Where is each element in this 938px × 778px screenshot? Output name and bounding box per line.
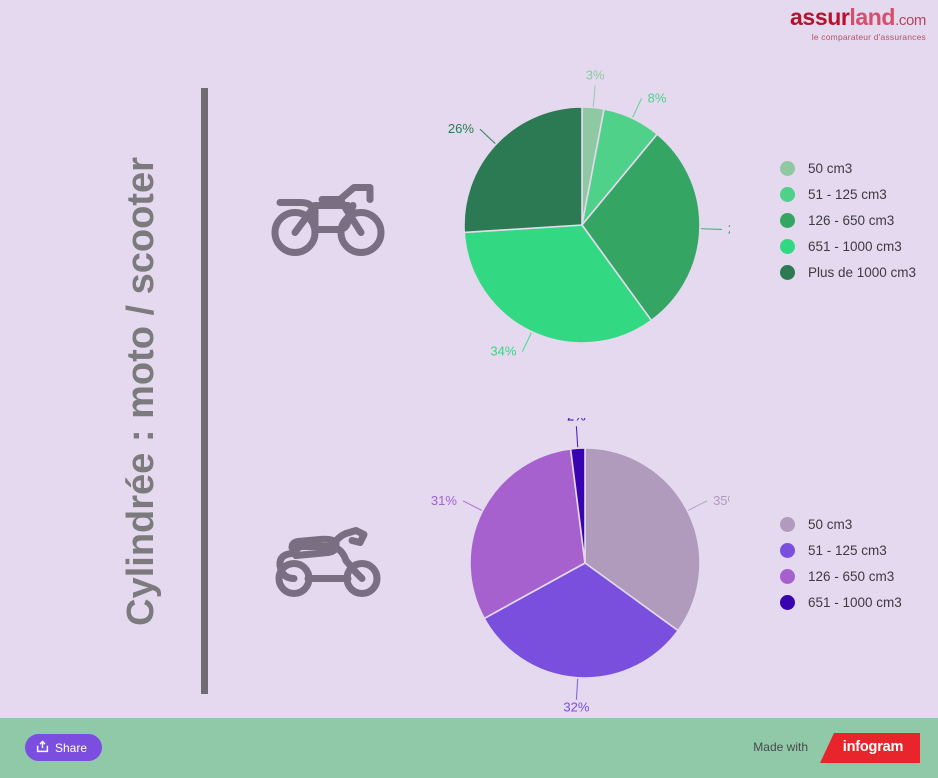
- pie-percent-label: 29%: [728, 221, 730, 236]
- leader-line: [576, 426, 577, 447]
- pie-percent-label: 31%: [431, 493, 457, 508]
- logo-tagline: le comparateur d'assurances: [790, 33, 926, 42]
- pie-percent-label: 26%: [448, 121, 474, 136]
- legend-color-swatch: [780, 569, 795, 584]
- assurland-logo: assurland.com le comparateur d'assurance…: [790, 6, 926, 42]
- legend-item[interactable]: 51 - 125 cm3: [780, 181, 916, 207]
- legend-item-label: 50 cm3: [808, 517, 852, 532]
- legend-color-swatch: [780, 161, 795, 176]
- pie-chart-moto: 3%8%29%34%26%: [430, 70, 730, 370]
- pie-percent-label: 8%: [648, 90, 667, 105]
- pie-percent-label: 34%: [490, 344, 516, 359]
- pie-chart-scooter: 35%32%31%2%: [430, 418, 730, 708]
- leader-line: [633, 98, 642, 117]
- infographic-page: assurland.com le comparateur d'assurance…: [0, 0, 938, 778]
- infogram-badge[interactable]: infogram: [820, 733, 920, 763]
- vertical-divider: [201, 88, 208, 694]
- pie-slice[interactable]: [464, 107, 582, 232]
- leader-line: [576, 679, 577, 700]
- pie-percent-label: 2%: [567, 418, 586, 423]
- legend-item-label: 50 cm3: [808, 161, 852, 176]
- legend-item-label: 51 - 125 cm3: [808, 187, 887, 202]
- pie-percent-label: 3%: [586, 70, 605, 83]
- legend-item[interactable]: Plus de 1000 cm3: [780, 259, 916, 285]
- legend-item[interactable]: 651 - 1000 cm3: [780, 589, 902, 615]
- leader-line: [480, 129, 495, 143]
- made-with-label: Made with: [753, 740, 808, 754]
- legend-color-swatch: [780, 265, 795, 280]
- legend-item[interactable]: 126 - 650 cm3: [780, 207, 916, 233]
- chart-row-scooter: 35%32%31%2% 50 cm351 - 125 cm3126 - 650 …: [215, 418, 938, 708]
- legend-color-swatch: [780, 239, 795, 254]
- legend-color-swatch: [780, 187, 795, 202]
- logo-com: .com: [895, 12, 926, 29]
- legend-item[interactable]: 651 - 1000 cm3: [780, 233, 916, 259]
- legend-moto: 50 cm351 - 125 cm3126 - 650 cm3651 - 100…: [780, 155, 916, 285]
- legend-color-swatch: [780, 213, 795, 228]
- page-title: Cylindrée : moto / scooter: [104, 88, 178, 694]
- legend-item-label: 126 - 650 cm3: [808, 213, 894, 228]
- leader-line: [593, 86, 595, 107]
- infogram-brand-label: infogram: [843, 739, 903, 755]
- leader-line: [701, 229, 722, 230]
- legend-item-label: Plus de 1000 cm3: [808, 265, 916, 280]
- scooter-icon: [270, 521, 386, 606]
- leader-line: [463, 501, 482, 511]
- logo-wordmark: assurland.com: [790, 6, 926, 29]
- footer-bar: Share Made with infogram: [0, 718, 938, 778]
- logo-assur: assur: [790, 4, 849, 30]
- share-button-label: Share: [55, 741, 87, 755]
- legend-item-label: 651 - 1000 cm3: [808, 595, 902, 610]
- pie-percent-label: 35%: [713, 493, 730, 508]
- legend-scooter: 50 cm351 - 125 cm3126 - 650 cm3651 - 100…: [780, 511, 902, 615]
- legend-color-swatch: [780, 517, 795, 532]
- legend-item[interactable]: 126 - 650 cm3: [780, 563, 902, 589]
- legend-item[interactable]: 51 - 125 cm3: [780, 537, 902, 563]
- chart-row-moto: 3%8%29%34%26% 50 cm351 - 125 cm3126 - 65…: [215, 70, 938, 370]
- legend-color-swatch: [780, 543, 795, 558]
- leader-line: [688, 501, 707, 511]
- leader-line: [522, 333, 531, 352]
- legend-item-label: 126 - 650 cm3: [808, 569, 894, 584]
- share-button[interactable]: Share: [25, 734, 102, 761]
- logo-land: land: [849, 4, 895, 30]
- motorcycle-icon: [270, 178, 386, 263]
- pie-percent-label: 32%: [563, 700, 589, 715]
- share-icon: [36, 740, 49, 756]
- legend-color-swatch: [780, 595, 795, 610]
- legend-item-label: 51 - 125 cm3: [808, 543, 887, 558]
- legend-item[interactable]: 50 cm3: [780, 511, 902, 537]
- legend-item[interactable]: 50 cm3: [780, 155, 916, 181]
- legend-item-label: 651 - 1000 cm3: [808, 239, 902, 254]
- page-title-text: Cylindrée : moto / scooter: [120, 157, 163, 626]
